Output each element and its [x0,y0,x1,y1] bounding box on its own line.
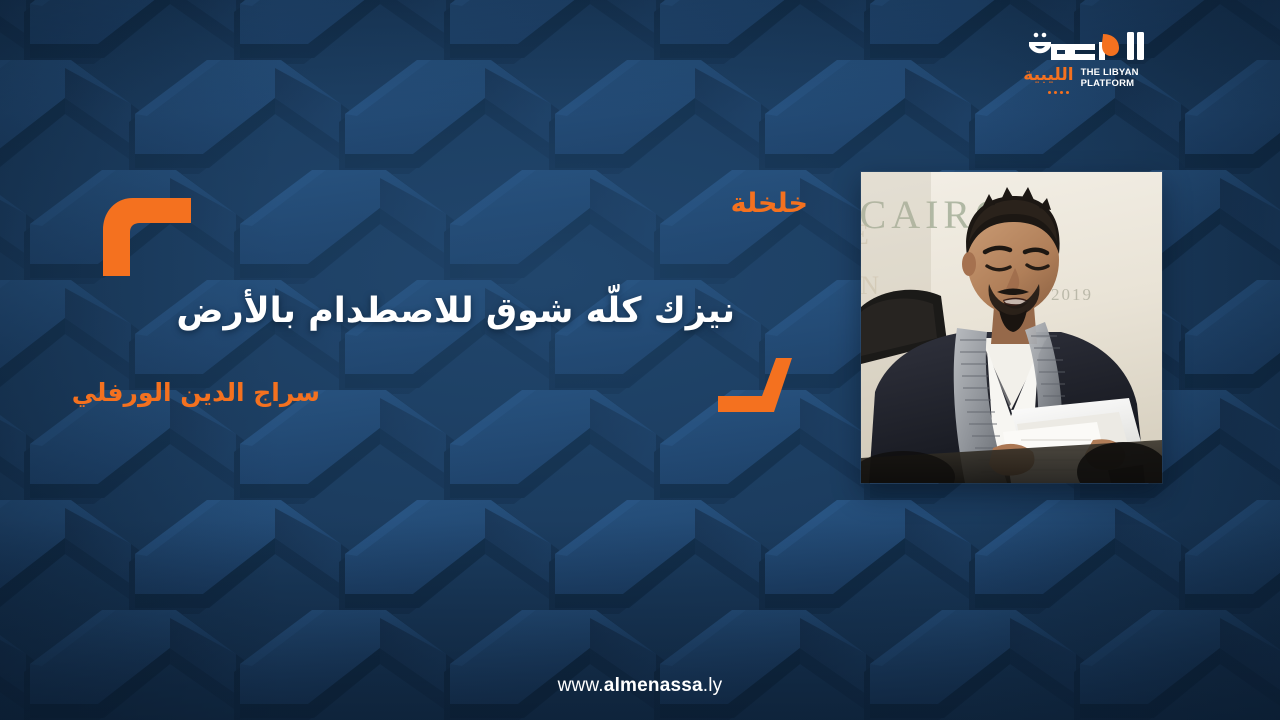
logo-wordmark-arabic [1015,26,1147,66]
backdrop-text-year: 2019 [1051,285,1093,304]
logo-english-line2: PLATFORM [1081,78,1135,89]
url-domain-name: almenassa [604,675,703,696]
quote-close-icon [718,358,792,412]
url-prefix: www. [558,675,604,696]
logo-dots-decoration [1015,91,1101,94]
url-tld: .ly [703,675,723,696]
quote-open-icon [103,198,191,276]
logo-arabic-svg [1015,26,1147,66]
portrait-illustration: CAIRO 2019 NATIONAL E DEN [861,172,1162,483]
quote-close-svg [718,358,792,412]
logo-arabic-sub: الليبية [1023,67,1073,84]
article-author[interactable]: سراج الدين الورفلي [72,378,320,408]
article-card: الليبية THE LIBYAN PLATFORM خلخلة نيزك ك… [0,0,1280,720]
logo-english-line1: THE LIBYAN [1081,67,1139,78]
article-category[interactable]: خلخلة [731,190,808,217]
logo-english: THE LIBYAN PLATFORM [1081,67,1139,89]
article-headline: نيزك كلّه شوق للاصطدام بالأرض [176,288,735,334]
author-portrait-photo: CAIRO 2019 NATIONAL E DEN [861,172,1162,483]
logo-subline: الليبية THE LIBYAN PLATFORM [1015,67,1147,89]
footer-website-url[interactable]: www.almenassa.ly [0,676,1280,695]
brand-logo[interactable]: الليبية THE LIBYAN PLATFORM [1015,26,1147,94]
quote-open-svg [103,198,191,276]
